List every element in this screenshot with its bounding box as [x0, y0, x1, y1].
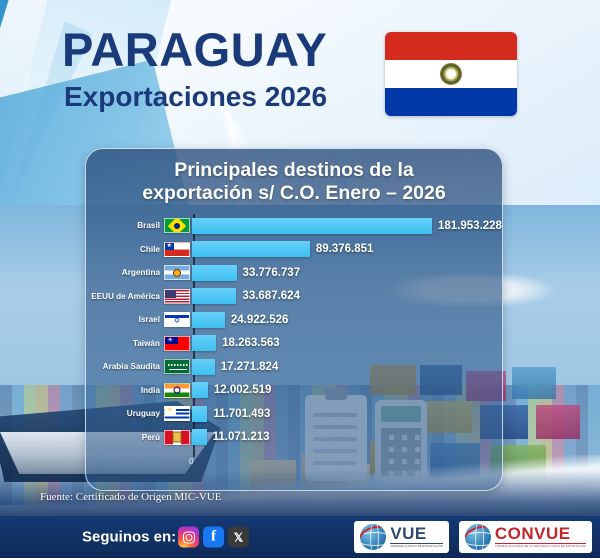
- bar-chart: 0 Brasil181.953.228Chile89.376.851Argent…: [86, 214, 502, 461]
- footer: Seguinos en: f 𝕏 VUE VENTANILLA ÚNICA DE…: [0, 516, 600, 558]
- follow-label: Seguinos en:: [82, 529, 176, 546]
- bar-label-brasil: Brasil: [86, 221, 164, 230]
- bar-value-uruguay: 11.701.493: [213, 408, 270, 420]
- convue-logo-name: CONVUE: [495, 525, 586, 542]
- convue-logo-subtitle: CONSEJO NACIONAL DE LA VENTANILLA ÚNICA …: [495, 546, 586, 549]
- bar-uruguay: [192, 406, 207, 422]
- india-flag: [164, 383, 190, 398]
- vue-logo-name: VUE: [390, 525, 443, 542]
- bar-value-israel: 24.922.526: [231, 314, 289, 326]
- globe-icon: [465, 524, 491, 550]
- partner-logos: VUE VENTANILLA ÚNICA DE EXPORTACIÓN CONV…: [354, 521, 592, 553]
- header: PARAGUAY Exportaciones 2026: [0, 0, 600, 145]
- bar-arabia-saudita: [192, 359, 215, 375]
- bar-value-india: 12.002.519: [214, 384, 272, 396]
- peru-flag: [164, 430, 190, 445]
- convue-logo[interactable]: CONVUE CONSEJO NACIONAL DE LA VENTANILLA…: [459, 521, 592, 553]
- chart-title-line1: Principales destinos de la: [174, 159, 414, 181]
- bar-eeuu-de-am-rica: [192, 288, 236, 304]
- bar-argentina: [192, 265, 237, 281]
- bar-value-argentina: 33.776.737: [243, 267, 301, 279]
- bar-taiw-n: [192, 335, 216, 351]
- saudi-arabia-flag: [164, 359, 190, 374]
- x-twitter-icon[interactable]: 𝕏: [228, 527, 249, 548]
- chart-panel: Principales destinos de la exportación s…: [85, 148, 503, 491]
- chart-title: Principales destinos de la exportación s…: [86, 159, 502, 205]
- bar-label-argentina: Argentina: [86, 268, 164, 277]
- bar-row: EEUU de América33.687.624: [86, 285, 502, 309]
- bar-value-arabia-saudita: 17.271.824: [221, 361, 279, 373]
- paraguay-coat-of-arms-icon: [440, 63, 462, 85]
- bar-value-taiw-n: 18.263.563: [222, 337, 280, 349]
- bar-row: Argentina33.776.737: [86, 261, 502, 285]
- bar-india: [192, 382, 208, 398]
- bar-label-uruguay: Uruguay: [86, 409, 164, 418]
- bar-label-per-: Perú: [86, 433, 164, 442]
- bar-value-chile: 89.376.851: [316, 243, 374, 255]
- argentina-flag: [164, 265, 190, 280]
- chart-title-line2: exportación s/ C.O. Enero – 2026: [142, 182, 445, 204]
- bar-row: Chile89.376.851: [86, 238, 502, 262]
- taiwan-flag: [164, 336, 190, 351]
- bar-value-brasil: 181.953.228: [438, 220, 502, 232]
- bar-value-eeuu-de-am-rica: 33.687.624: [242, 290, 300, 302]
- axis-tick-zero: 0: [189, 457, 193, 466]
- bar-brasil: [192, 218, 432, 234]
- bar-row: Taiwán18.263.563: [86, 332, 502, 356]
- bar-row: Brasil181.953.228: [86, 214, 502, 238]
- bar-value-per-: 11.071.213: [213, 431, 270, 443]
- social-links: f 𝕏: [178, 527, 249, 548]
- bar-per-: [192, 429, 207, 445]
- vue-logo-subtitle: VENTANILLA ÚNICA DE EXPORTACIÓN: [390, 546, 443, 549]
- usa-flag: [164, 289, 190, 304]
- bar-label-india: India: [86, 386, 164, 395]
- bar-row: Uruguay11.701.493: [86, 402, 502, 426]
- page-subtitle: Exportaciones 2026: [64, 83, 327, 111]
- bar-israel: [192, 312, 225, 328]
- instagram-icon[interactable]: [178, 527, 199, 548]
- globe-icon: [360, 524, 386, 550]
- bar-chile: [192, 241, 310, 257]
- facebook-icon[interactable]: f: [203, 527, 224, 548]
- israel-flag: [164, 312, 190, 327]
- page-title: PARAGUAY: [62, 26, 327, 73]
- paraguay-flag: [385, 32, 517, 116]
- chile-flag: [164, 242, 190, 257]
- bar-row: Arabia Saudita17.271.824: [86, 355, 502, 379]
- bar-row: Israel24.922.526: [86, 308, 502, 332]
- bar-label-eeuu-de-am-rica: EEUU de América: [86, 292, 164, 301]
- bar-label-taiw-n: Taiwán: [86, 339, 164, 348]
- uruguay-flag: [164, 406, 190, 421]
- brazil-flag: [164, 218, 190, 233]
- bar-label-israel: Israel: [86, 315, 164, 324]
- bar-label-arabia-saudita: Arabia Saudita: [86, 362, 164, 371]
- bar-row: Perú11.071.213: [86, 426, 502, 450]
- vue-logo[interactable]: VUE VENTANILLA ÚNICA DE EXPORTACIÓN: [354, 521, 449, 553]
- bar-row: India12.002.519: [86, 379, 502, 403]
- bar-label-chile: Chile: [86, 245, 164, 254]
- source-note: Fuente: Certificado de Origen MIC-VUE: [40, 491, 221, 503]
